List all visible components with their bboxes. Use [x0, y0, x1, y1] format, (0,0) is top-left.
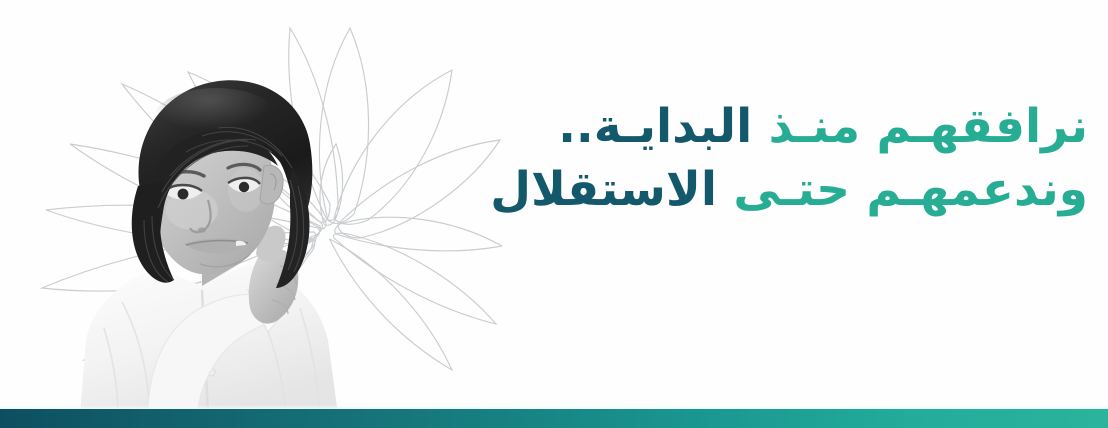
gradient-divider-bar [0, 409, 1108, 428]
banner-root: نرافقهـم منـذ البدايـة.. وندعمهـم حتـى ا… [0, 0, 1108, 428]
headline-line-1: نرافقهـم منـذ البدايـة.. [468, 103, 1088, 150]
child-portrait-photo [52, 40, 382, 415]
headline-line-2-dark-segment: الاستقلال [490, 162, 717, 217]
headline-line-2-green-segment: وندعمهـم حتـى [733, 162, 1088, 217]
headline-line-1-dark-segment: البدايـة.. [558, 99, 752, 154]
headline-line-1-green-segment: نرافقهـم منـذ [769, 99, 1088, 154]
headline-line-2: وندعمهـم حتـى الاستقلال [468, 166, 1088, 213]
headline: نرافقهـم منـذ البدايـة.. وندعمهـم حتـى ا… [468, 103, 1088, 213]
